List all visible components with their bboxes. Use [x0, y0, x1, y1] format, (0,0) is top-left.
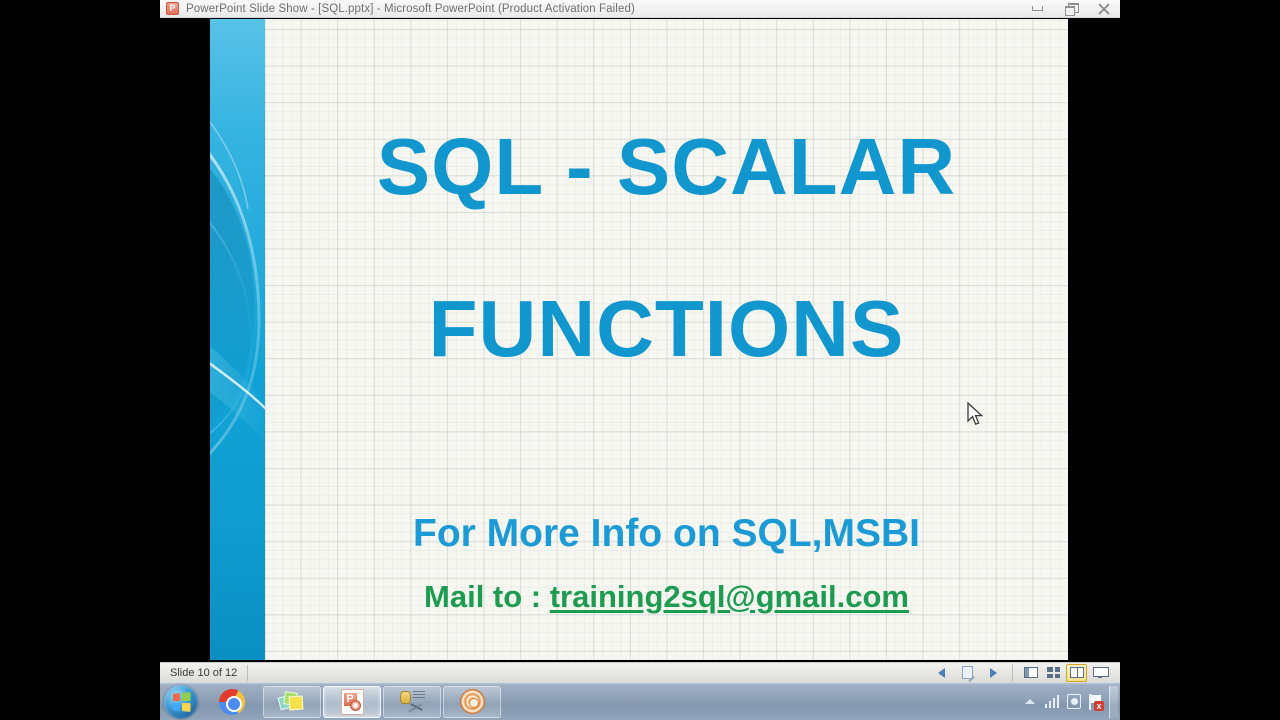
close-button[interactable] [1087, 0, 1120, 18]
powerpoint-file-icon: P [341, 689, 364, 715]
slide-subtitle-info: For More Info on SQL,MSBI [265, 512, 1068, 556]
tray-action-center[interactable] [1063, 687, 1085, 717]
mail-label: Mail to : [424, 579, 550, 614]
ssms-lines [413, 691, 425, 700]
tray-flag-alert[interactable]: x [1085, 687, 1107, 717]
taskbar-item-chrome[interactable] [203, 686, 261, 718]
taskbar-item-sql-server-management-studio[interactable] [383, 686, 441, 718]
arrow-right-icon [990, 668, 997, 678]
window-controls [1021, 0, 1120, 18]
view-buttons-group [1012, 664, 1112, 682]
start-orb[interactable] [164, 685, 198, 719]
previous-slide-button[interactable] [928, 664, 954, 682]
reading-view-icon [1070, 667, 1084, 678]
slide-show-icon [1093, 667, 1107, 678]
ssms-database-tools-icon [399, 690, 425, 714]
slide-counter: Slide 10 of 12 [160, 665, 248, 681]
pen-page-icon [962, 666, 973, 679]
powerpoint-disc [350, 700, 361, 711]
mouse-cursor [966, 402, 984, 428]
view-slide-show[interactable] [1089, 664, 1110, 682]
close-icon [1098, 3, 1110, 14]
normal-view-icon [1024, 667, 1038, 678]
restore-icon [1065, 3, 1077, 14]
status-bar: Slide 10 of 12 [160, 662, 1120, 682]
show-desktop-button[interactable] [1109, 686, 1118, 718]
annotation-pen-button[interactable] [954, 664, 980, 682]
chrome-icon [219, 689, 245, 715]
restore-button[interactable] [1054, 0, 1087, 18]
slide-sorter-icon [1047, 667, 1060, 678]
network-signal-icon [1045, 695, 1060, 708]
tray-network[interactable] [1041, 687, 1063, 717]
taskbar-item-flower-app[interactable] [443, 686, 501, 718]
taskbar: P [160, 682, 1120, 720]
tray-show-hidden-icons[interactable] [1019, 687, 1041, 717]
window-title: PowerPoint Slide Show - [SQL.pptx] - Mic… [186, 3, 635, 15]
screen: P PowerPoint Slide Show - [SQL.pptx] - M… [0, 0, 1280, 720]
error-badge: x [1094, 701, 1104, 711]
arrow-left-icon [938, 668, 945, 678]
band-swirl-graphic [210, 19, 265, 660]
wrench-hammer-icon [408, 702, 423, 714]
next-slide-button[interactable] [980, 664, 1006, 682]
taskbar-item-powerpoint[interactable]: P [323, 686, 381, 718]
slide-mail-line: Mail to : training2sql@gmail.com [265, 579, 1068, 615]
action-center-icon [1067, 694, 1081, 709]
view-slide-sorter[interactable] [1043, 664, 1064, 682]
flower-icon [460, 689, 485, 714]
windows-logo-icon [173, 692, 191, 712]
sticky-notes-icon [279, 690, 305, 714]
flag-error-icon: x [1089, 694, 1103, 710]
minimize-button[interactable] [1021, 0, 1054, 18]
slide-title-line-2: FUNCTIONS [265, 289, 1068, 369]
theme-decoration-band [210, 19, 265, 660]
minimize-icon [1032, 6, 1043, 11]
mail-link[interactable]: training2sql@gmail.com [550, 579, 909, 614]
slide-title-line-1: SQL - SCALAR [265, 127, 1068, 207]
status-bar-right-group [928, 663, 1120, 683]
view-reading[interactable] [1066, 664, 1087, 682]
taskbar-item-sticky-notes[interactable] [263, 686, 321, 718]
powerpoint-icon: P [166, 2, 179, 15]
view-normal[interactable] [1020, 664, 1041, 682]
window-titlebar: P PowerPoint Slide Show - [SQL.pptx] - M… [160, 0, 1120, 18]
chevron-up-icon [1025, 699, 1035, 704]
slide-canvas[interactable]: SQL - SCALAR FUNCTIONS For More Info on … [210, 19, 1068, 660]
system-tray: x [1019, 683, 1120, 720]
